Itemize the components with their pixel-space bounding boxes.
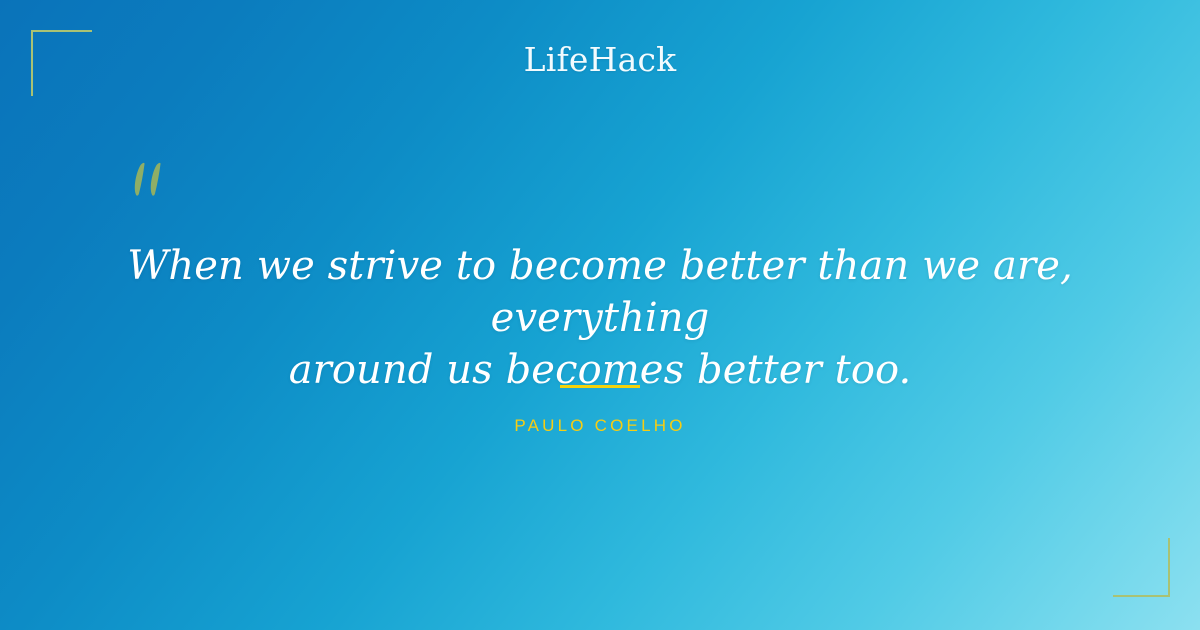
attribution-divider	[560, 385, 640, 388]
quote-mark-icon	[130, 160, 176, 212]
brand-logo: LifeHack	[0, 40, 1200, 80]
quote-line: When we strive to become better than we …	[100, 240, 1100, 344]
quote-line: around us becomes better too.	[100, 344, 1100, 396]
corner-bracket-bottom-right-icon	[1113, 538, 1170, 597]
quote-card: LifeHack When we strive to become better…	[0, 0, 1200, 630]
attribution-divider-wrap	[0, 384, 1200, 388]
quote-author: PAULO COELHO	[0, 414, 1200, 438]
quote-text: When we strive to become better than we …	[100, 240, 1100, 396]
